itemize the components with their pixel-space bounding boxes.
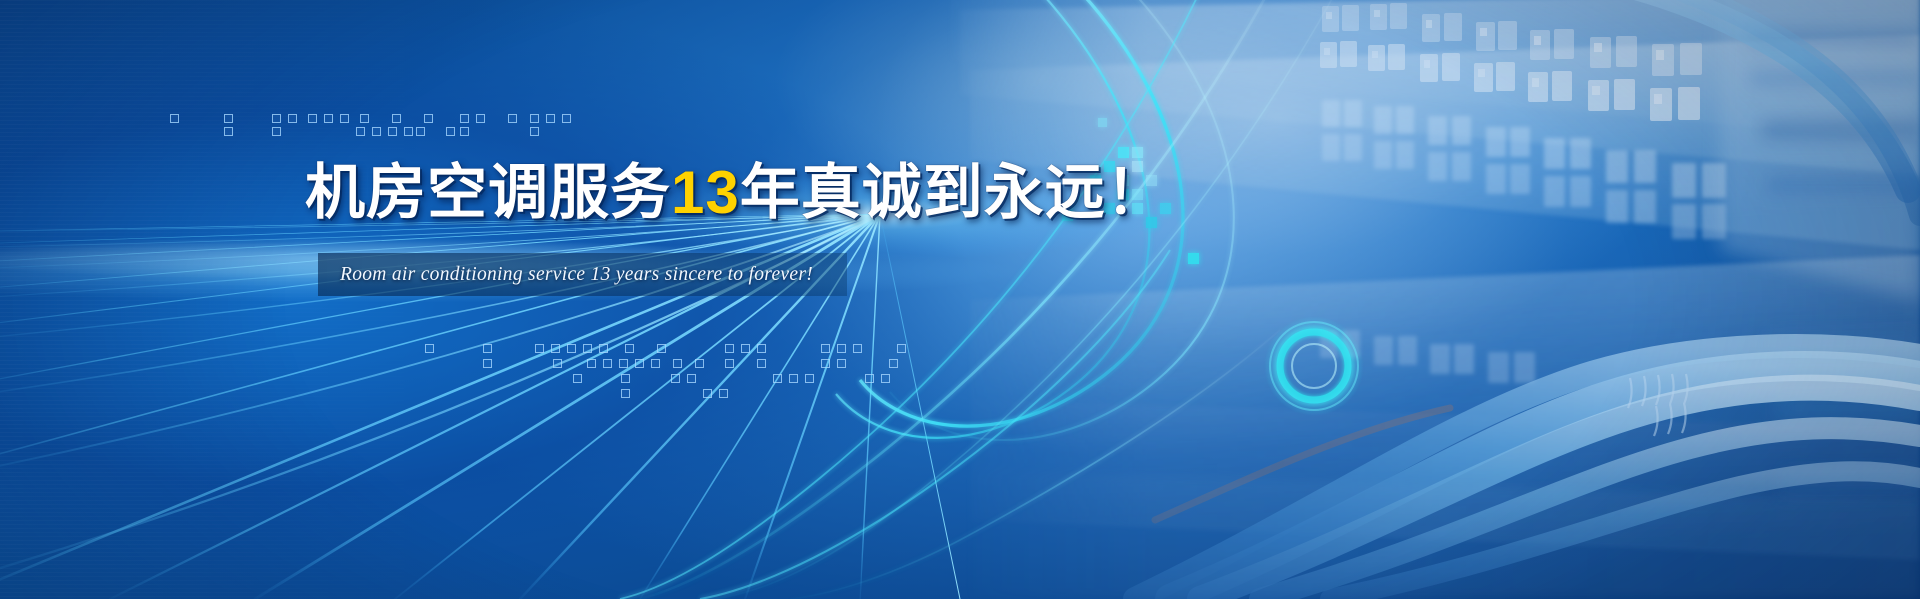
- headline-suffix: 年真诚到永远！: [740, 159, 1167, 226]
- banner-text-block: 机房空调服务13年真诚到永远！ Room air conditioning se…: [0, 0, 1920, 599]
- banner-subtitle: Room air conditioning service 13 years s…: [340, 256, 840, 293]
- headline-highlight-number: 13: [671, 159, 740, 226]
- headline-prefix: 机房空调服务: [305, 159, 671, 226]
- banner-headline: 机房空调服务13年真诚到永远！: [305, 163, 1167, 223]
- hero-banner: 机房空调服务13年真诚到永远！ Room air conditioning se…: [0, 0, 1920, 599]
